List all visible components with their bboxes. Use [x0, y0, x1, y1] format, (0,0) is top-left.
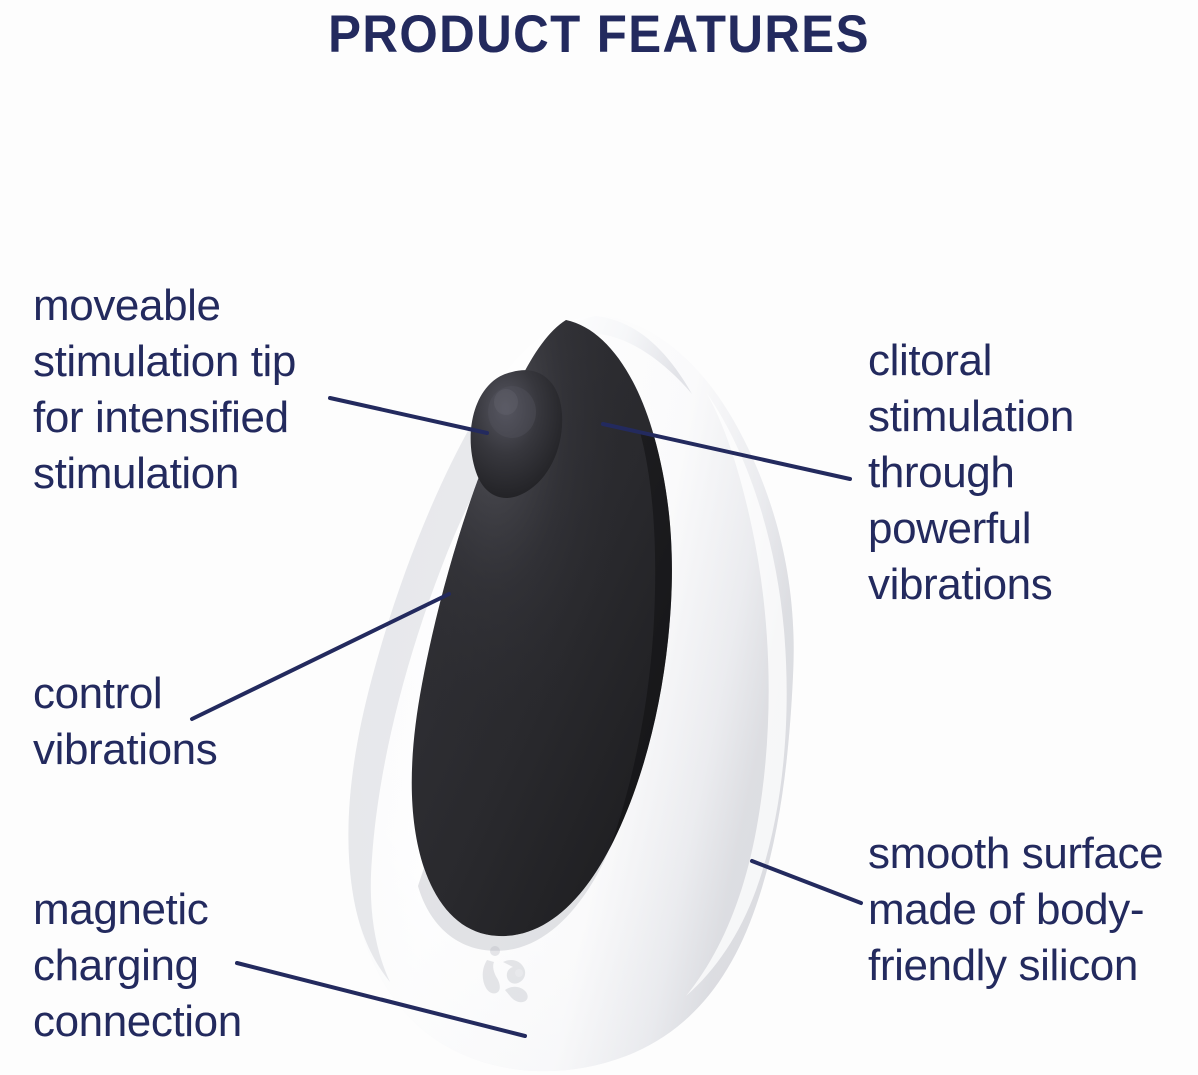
callout-magnetic-charging-connection: magnetic charging connection: [33, 882, 333, 1050]
product-features-infographic: PRODUCT FEATURES: [0, 0, 1198, 1075]
callout-clitoral-stimulation: clitoral stimulation through powerful vi…: [868, 333, 1168, 613]
callout-smooth-surface: smooth surface made of body- friendly si…: [868, 826, 1188, 994]
callout-control-vibrations: control vibrations: [33, 666, 333, 778]
callout-moveable-stimulation-tip: moveable stimulation tip for intensified…: [33, 278, 363, 502]
